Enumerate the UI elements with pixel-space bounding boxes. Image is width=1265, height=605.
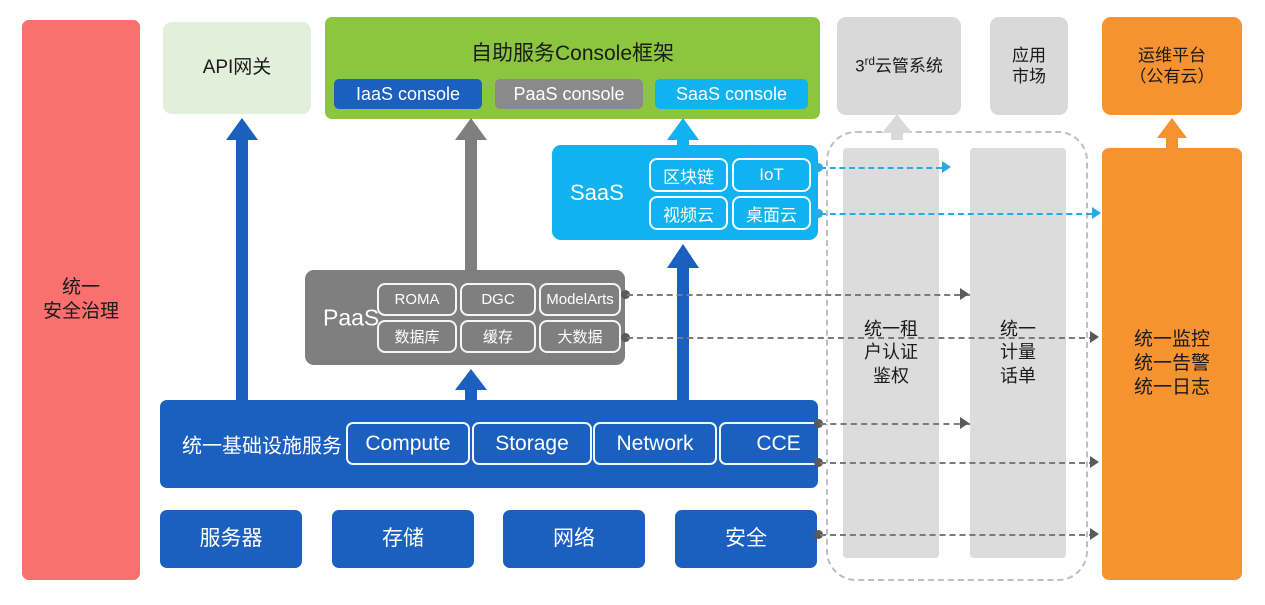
right-panel-line3: 统一日志	[1134, 376, 1210, 400]
connector-paas-to-billing	[627, 294, 970, 296]
app-market-line2: 市场	[1012, 66, 1046, 87]
connector-arrowhead-saas-ops	[1092, 207, 1101, 219]
column-billing-line3: 话单	[1000, 365, 1036, 388]
chip-iaas-console[interactable]: IaaS console	[334, 79, 482, 109]
arrow-saas-to-console	[667, 118, 699, 148]
pill-cce-label: CCE	[756, 432, 800, 456]
panel-self-service-console-framework: 自助服务Console框架 IaaS console PaaS console …	[325, 17, 820, 119]
connector-arrowhead-hardware-ops	[1090, 528, 1099, 540]
panel-unified-security-governance: 统一 安全治理	[22, 20, 140, 580]
arrow-infra-to-paas	[455, 369, 487, 401]
pill-video-cloud-label: 视频云	[663, 201, 714, 226]
card-hardware-server[interactable]: 服务器	[160, 510, 302, 568]
connector-saas-to-ops	[820, 213, 1092, 215]
pill-desktop-cloud-label: 桌面云	[746, 201, 797, 226]
connector-paas-to-ops	[627, 337, 1095, 339]
column-auth-line3: 鉴权	[864, 365, 918, 388]
pill-video-cloud[interactable]: 视频云	[649, 196, 728, 230]
pill-iot-label: IoT	[759, 165, 784, 185]
architecture-diagram: 统一 安全治理 API网关 自助服务Console框架 IaaS console…	[0, 0, 1265, 605]
pill-desktop-cloud[interactable]: 桌面云	[732, 196, 811, 230]
connector-infra-to-billing	[820, 423, 970, 425]
connector-arrowhead-paas-billing	[960, 288, 969, 300]
panel-paas: PaaS ROMA DGC ModelArts 数据库 缓存 大数据	[305, 270, 625, 365]
infrastructure-label: 统一基础设施服务	[182, 430, 342, 459]
pill-modelarts[interactable]: ModelArts	[539, 283, 621, 316]
hardware-network-label: 网络	[553, 526, 595, 552]
card-hardware-network[interactable]: 网络	[503, 510, 645, 568]
pill-modelarts-label: ModelArts	[546, 291, 614, 308]
pill-storage-label: Storage	[495, 432, 569, 456]
chip-paas-console[interactable]: PaaS console	[495, 79, 643, 109]
api-gateway-label: API网关	[203, 56, 272, 80]
card-ops-platform-public-cloud[interactable]: 运维平台 （公有云）	[1102, 17, 1242, 115]
arrow-to-third-party-cloud	[882, 114, 912, 140]
hardware-server-label: 服务器	[200, 526, 263, 552]
right-panel-line1: 统一监控	[1134, 328, 1210, 352]
connector-saas-to-auth	[820, 167, 942, 169]
connector-infra-to-ops	[820, 462, 1095, 464]
pill-database[interactable]: 数据库	[377, 320, 457, 353]
pill-database-label: 数据库	[394, 326, 439, 347]
card-third-party-cloud-management[interactable]: 3rd云管系统	[837, 17, 961, 115]
pill-network[interactable]: Network	[593, 422, 717, 465]
app-market-line1: 应用	[1012, 45, 1046, 66]
chip-saas-console-label: SaaS console	[676, 84, 787, 105]
connector-arrowhead-infra-ops	[1090, 456, 1099, 468]
chip-paas-console-label: PaaS console	[513, 84, 624, 105]
card-hardware-storage[interactable]: 存储	[332, 510, 474, 568]
hardware-security-label: 安全	[725, 526, 767, 552]
ops-top-line2: （公有云）	[1130, 66, 1215, 87]
pill-roma-label: ROMA	[395, 291, 440, 308]
pill-cache-label: 缓存	[483, 326, 513, 347]
panel-security-line1: 统一	[43, 276, 119, 300]
column-unified-tenant-auth: 统一租 户认证 鉴权	[843, 148, 939, 558]
pill-dgc[interactable]: DGC	[460, 283, 536, 316]
pill-iot[interactable]: IoT	[732, 158, 811, 192]
column-auth-line2: 户认证	[864, 341, 918, 364]
paas-label: PaaS	[323, 304, 379, 331]
card-app-market[interactable]: 应用 市场	[990, 17, 1068, 115]
card-hardware-security[interactable]: 安全	[675, 510, 817, 568]
pill-roma[interactable]: ROMA	[377, 283, 457, 316]
chip-iaas-console-label: IaaS console	[356, 84, 460, 105]
pill-storage[interactable]: Storage	[472, 422, 592, 465]
arrow-paas-to-console	[455, 118, 487, 273]
ops-top-line1: 运维平台	[1130, 45, 1215, 66]
panel-saas: SaaS 区块链 IoT 视频云 桌面云	[552, 145, 818, 240]
saas-label: SaaS	[570, 180, 624, 206]
pill-compute-label: Compute	[365, 432, 450, 456]
pill-dgc-label: DGC	[481, 291, 514, 308]
connector-arrowhead-paas-ops	[1090, 331, 1099, 343]
arrow-to-ops-platform	[1157, 118, 1187, 148]
pill-cache[interactable]: 缓存	[460, 320, 536, 353]
right-panel-line2: 统一告警	[1134, 352, 1210, 376]
column-billing-line2: 计量	[1000, 341, 1036, 364]
chip-saas-console[interactable]: SaaS console	[655, 79, 808, 109]
card-api-gateway[interactable]: API网关	[163, 22, 311, 114]
pill-blockchain-label: 区块链	[663, 163, 714, 188]
pill-blockchain[interactable]: 区块链	[649, 158, 728, 192]
pill-bigdata[interactable]: 大数据	[539, 320, 621, 353]
arrow-infra-to-saas	[667, 244, 699, 400]
connector-arrowhead-saas-auth	[942, 161, 951, 173]
column-unified-metering-billing: 统一 计量 话单	[970, 148, 1066, 558]
third-party-label: 3rd云管系统	[855, 55, 943, 77]
panel-unified-infrastructure-service: 统一基础设施服务 Compute Storage Network CCE	[160, 400, 818, 488]
hardware-storage-label: 存储	[382, 526, 424, 552]
panel-unified-monitoring-alarm-log: 统一监控 统一告警 统一日志	[1102, 148, 1242, 580]
pill-network-label: Network	[616, 432, 693, 456]
panel-security-line2: 安全治理	[43, 300, 119, 324]
connector-arrowhead-infra-billing	[960, 417, 969, 429]
console-framework-title: 自助服务Console框架	[325, 37, 820, 67]
pill-compute[interactable]: Compute	[346, 422, 470, 465]
pill-bigdata-label: 大数据	[557, 326, 602, 347]
arrow-infra-to-api-gateway	[226, 118, 258, 402]
connector-hardware-to-ops	[820, 534, 1095, 536]
